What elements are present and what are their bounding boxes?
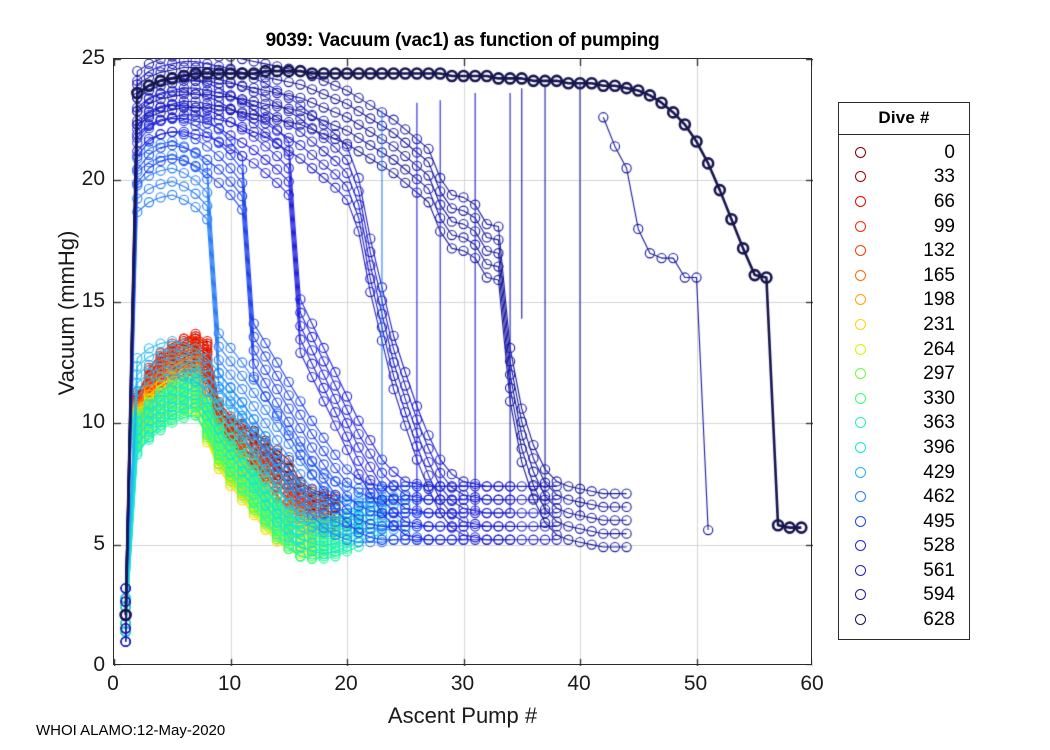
page-title: 9039: Vacuum (vac1) as function of pumpi… <box>113 30 812 52</box>
legend-row[interactable]: 264 <box>839 337 969 362</box>
legend-label: 429 <box>881 463 969 482</box>
circle-marker-icon <box>839 491 881 502</box>
legend-row[interactable]: 330 <box>839 386 969 411</box>
legend-row[interactable]: 528 <box>839 534 969 559</box>
legend-label: 99 <box>881 217 969 236</box>
legend-label: 165 <box>881 266 969 285</box>
legend-row[interactable]: 0 <box>839 140 969 165</box>
legend-row[interactable]: 396 <box>839 435 969 460</box>
legend-label: 33 <box>881 167 969 186</box>
legend-row[interactable]: 198 <box>839 288 969 313</box>
circle-marker-icon <box>839 368 881 379</box>
legend-row[interactable]: 231 <box>839 312 969 337</box>
x-tick-label: 0 <box>83 672 143 696</box>
legend-label: 264 <box>881 340 969 359</box>
circle-marker-icon <box>839 393 881 404</box>
legend-label: 462 <box>881 487 969 506</box>
circle-marker-icon <box>839 516 881 527</box>
circle-marker-icon <box>839 270 881 281</box>
circle-marker-icon <box>839 467 881 478</box>
circle-marker-icon <box>839 344 881 355</box>
circle-marker-icon <box>839 589 881 600</box>
legend-label: 594 <box>881 585 969 604</box>
x-tick-label: 10 <box>200 672 260 696</box>
circle-marker-icon <box>839 540 881 551</box>
chart-canvas <box>114 59 813 666</box>
y-tick-label: 5 <box>59 532 105 556</box>
x-tick-label: 60 <box>782 672 842 696</box>
x-tick-label: 30 <box>433 672 493 696</box>
footer-note: WHOI ALAMO:12-May-2020 <box>36 722 225 739</box>
y-tick-label: 25 <box>59 46 105 70</box>
circle-marker-icon <box>839 294 881 305</box>
legend-items: 0336699132165198231264297330363396429462… <box>839 135 969 639</box>
legend-label: 66 <box>881 192 969 211</box>
legend-row[interactable]: 66 <box>839 189 969 214</box>
legend-row[interactable]: 99 <box>839 214 969 239</box>
legend-label: 330 <box>881 389 969 408</box>
legend-label: 628 <box>881 610 969 629</box>
legend-label: 198 <box>881 290 969 309</box>
plot-area <box>113 58 812 665</box>
circle-marker-icon <box>839 245 881 256</box>
legend-row[interactable]: 297 <box>839 361 969 386</box>
legend-row[interactable]: 132 <box>839 238 969 263</box>
legend-title: Dive # <box>839 103 969 135</box>
figure-root: 9039: Vacuum (vac1) as function of pumpi… <box>0 0 1050 750</box>
circle-marker-icon <box>839 442 881 453</box>
legend-row[interactable]: 628 <box>839 607 969 632</box>
legend-label: 0 <box>881 143 969 162</box>
legend-label: 561 <box>881 561 969 580</box>
legend-row[interactable]: 33 <box>839 165 969 190</box>
legend-label: 132 <box>881 241 969 260</box>
legend-label: 297 <box>881 364 969 383</box>
x-tick-label: 40 <box>549 672 609 696</box>
circle-marker-icon <box>839 147 881 158</box>
x-tick-label: 50 <box>666 672 726 696</box>
y-axis-label: Vacuum (mmHg) <box>54 183 80 443</box>
circle-marker-icon <box>839 565 881 576</box>
circle-marker-icon <box>839 171 881 182</box>
legend-row[interactable]: 363 <box>839 411 969 436</box>
circle-marker-icon <box>839 221 881 232</box>
legend-row[interactable]: 594 <box>839 583 969 608</box>
legend-label: 231 <box>881 315 969 334</box>
circle-marker-icon <box>839 319 881 330</box>
x-tick-label: 20 <box>316 672 376 696</box>
legend-label: 363 <box>881 413 969 432</box>
legend-row[interactable]: 429 <box>839 460 969 485</box>
legend-row[interactable]: 561 <box>839 558 969 583</box>
circle-marker-icon <box>839 196 881 207</box>
circle-marker-icon <box>839 417 881 428</box>
legend-label: 528 <box>881 536 969 555</box>
circle-marker-icon <box>839 614 881 625</box>
legend-label: 495 <box>881 512 969 531</box>
legend-label: 396 <box>881 438 969 457</box>
legend: Dive # 033669913216519823126429733036339… <box>838 102 970 640</box>
legend-row[interactable]: 495 <box>839 509 969 534</box>
legend-row[interactable]: 165 <box>839 263 969 288</box>
x-axis-ticks: 0102030405060 <box>113 672 812 702</box>
legend-row[interactable]: 462 <box>839 484 969 509</box>
